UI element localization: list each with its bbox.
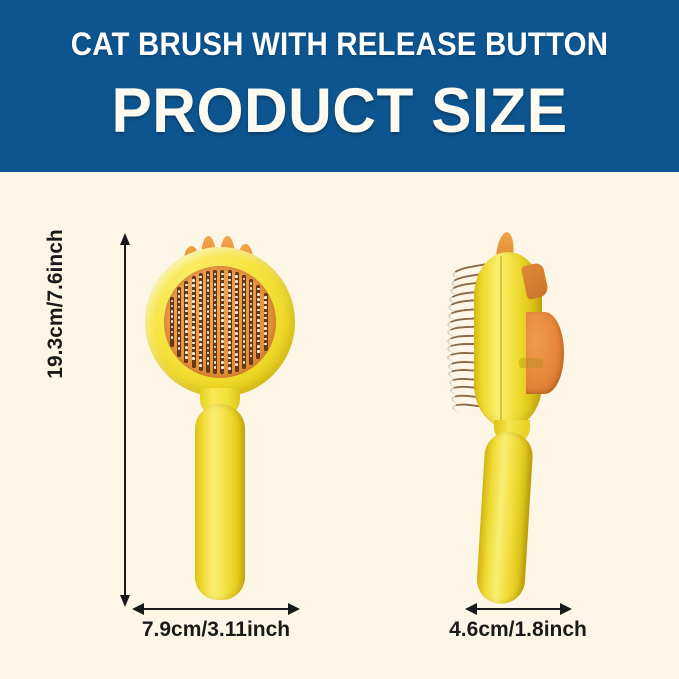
bristle-dot bbox=[250, 350, 253, 353]
bristle-slot bbox=[206, 271, 210, 373]
bristle-dot bbox=[228, 310, 231, 313]
bristle-dot bbox=[257, 345, 260, 348]
bristle-dot bbox=[207, 300, 210, 303]
bristle-dot bbox=[199, 354, 202, 357]
bristle-dot bbox=[178, 332, 181, 335]
bristle-dot bbox=[235, 301, 238, 304]
bristle-dot bbox=[207, 341, 210, 344]
bristle-dot bbox=[207, 279, 210, 282]
bristle-dot bbox=[228, 362, 231, 365]
bristle-dot bbox=[192, 321, 195, 324]
bristle-dot bbox=[214, 320, 217, 323]
bristle-dot bbox=[235, 358, 238, 361]
bristle-dot bbox=[257, 309, 260, 312]
bristle-dot bbox=[185, 299, 188, 302]
bristle-dot bbox=[207, 321, 210, 324]
bristle-dot bbox=[235, 327, 238, 330]
bristle-dot bbox=[228, 336, 231, 339]
bristle-dot bbox=[243, 283, 246, 286]
bristle-dot bbox=[235, 291, 238, 294]
cat-brush-side-view bbox=[440, 230, 620, 602]
bristle-dot bbox=[214, 330, 217, 333]
bristle-slot bbox=[199, 273, 203, 371]
bristle-slot bbox=[192, 276, 196, 368]
bristle-dot bbox=[221, 361, 224, 364]
bristle-dot bbox=[250, 318, 253, 321]
bristle-dot bbox=[264, 296, 267, 299]
bristle-dot bbox=[199, 312, 202, 315]
side-width-dimension-arrow bbox=[476, 608, 561, 610]
bristle-dot bbox=[221, 330, 224, 333]
bristle-dot bbox=[250, 287, 253, 290]
bristle-dot bbox=[235, 306, 238, 309]
bristle-dot bbox=[178, 342, 181, 345]
bristle-dot bbox=[264, 317, 267, 320]
bristle-dot bbox=[199, 364, 202, 367]
bristle-dot bbox=[192, 279, 195, 282]
product-stage: 19.3cm/7.6inch bbox=[0, 172, 679, 679]
bristle-dot bbox=[214, 304, 217, 307]
bristle-dot bbox=[178, 306, 181, 309]
bristle-dot bbox=[199, 281, 202, 284]
bristle-dot bbox=[228, 289, 231, 292]
bristle-dot bbox=[214, 351, 217, 354]
bristle-dot bbox=[250, 339, 253, 342]
bristle-dot bbox=[250, 292, 253, 295]
bristle-dot bbox=[214, 325, 217, 328]
bristle-dot bbox=[214, 283, 217, 286]
bristle-dot bbox=[257, 350, 260, 353]
bristle-dot bbox=[199, 317, 202, 320]
bristle-dot bbox=[221, 288, 224, 291]
bristle-dot bbox=[214, 278, 217, 281]
bristle-dot bbox=[228, 351, 231, 354]
bristle-dot bbox=[185, 289, 188, 292]
bristle-dot bbox=[214, 299, 217, 302]
bristle-slot bbox=[264, 293, 268, 351]
bristle-dot bbox=[199, 323, 202, 326]
bristle-slot bbox=[242, 275, 246, 369]
bristle-dot bbox=[192, 357, 195, 360]
bristle-slot bbox=[184, 281, 188, 364]
bristle-dot bbox=[257, 288, 260, 291]
page-title: PRODUCT SIZE bbox=[14, 80, 666, 143]
bristle-slot bbox=[220, 270, 224, 375]
bristle-dot bbox=[199, 328, 202, 331]
bristle-dot bbox=[235, 285, 238, 288]
bristle-dot bbox=[185, 294, 188, 297]
bristle-dot bbox=[171, 310, 174, 313]
bristle-dot bbox=[178, 316, 181, 319]
bristle-slot bbox=[177, 287, 181, 357]
bristle-dot bbox=[192, 352, 195, 355]
bristle-dot bbox=[214, 288, 217, 291]
bristle-dot bbox=[207, 352, 210, 355]
side-width-dimension-label: 4.6cm/1.8inch bbox=[398, 618, 638, 642]
brush-handle-side bbox=[476, 431, 534, 606]
bristle-dot bbox=[221, 335, 224, 338]
bristle-dot bbox=[235, 311, 238, 314]
bristle-dot bbox=[207, 305, 210, 308]
bristle-dot bbox=[228, 341, 231, 344]
bristle-dot bbox=[207, 295, 210, 298]
bristle-dot bbox=[243, 304, 246, 307]
bristle-dot bbox=[243, 340, 246, 343]
bristle-dot bbox=[221, 325, 224, 328]
bristle-dot bbox=[264, 338, 267, 341]
brush-handle bbox=[195, 404, 245, 600]
bristle-dot bbox=[243, 293, 246, 296]
product-size-infographic: CAT BRUSH WITH RELEASE BUTTON PRODUCT SI… bbox=[0, 0, 679, 679]
bristle-dot bbox=[221, 345, 224, 348]
bristle-dot bbox=[228, 294, 231, 297]
bristle-dot bbox=[257, 298, 260, 301]
bristle-dot bbox=[235, 332, 238, 335]
bristle-dot bbox=[235, 296, 238, 299]
bristle-dot bbox=[243, 325, 246, 328]
bristle-dot bbox=[250, 355, 253, 358]
bristle-dot bbox=[250, 308, 253, 311]
bristle-slot bbox=[249, 279, 253, 365]
bristle-dot bbox=[221, 273, 224, 276]
bristle-dot bbox=[171, 331, 174, 334]
header-subtitle: CAT BRUSH WITH RELEASE BUTTON bbox=[27, 26, 652, 63]
bristle-dot bbox=[214, 314, 217, 317]
bristle-dot bbox=[243, 356, 246, 359]
bristle-slot-grid bbox=[164, 266, 276, 378]
bristle-dot bbox=[192, 290, 195, 293]
bristle-dot bbox=[264, 343, 267, 346]
bristle-dot bbox=[221, 356, 224, 359]
bristle-dot bbox=[243, 309, 246, 312]
bristle-dot bbox=[171, 305, 174, 308]
bristle-dot bbox=[257, 314, 260, 317]
bristle-dot bbox=[264, 306, 267, 309]
bristle-dot bbox=[171, 336, 174, 339]
bristle-dot bbox=[214, 361, 217, 364]
bristle-dot bbox=[228, 315, 231, 318]
bristle-dot bbox=[171, 320, 174, 323]
bristle-dot bbox=[257, 293, 260, 296]
bristle-dot bbox=[185, 325, 188, 328]
bristle-dot bbox=[243, 288, 246, 291]
bristle-dot bbox=[264, 322, 267, 325]
bristle-dot bbox=[250, 329, 253, 332]
bristle-dot bbox=[221, 293, 224, 296]
bristle-dot bbox=[228, 346, 231, 349]
bristle-dot bbox=[250, 303, 253, 306]
bristle-dot bbox=[257, 303, 260, 306]
bristle-dot bbox=[185, 310, 188, 313]
bristle-dot bbox=[250, 282, 253, 285]
bristle-dot bbox=[178, 295, 181, 298]
bristle-dot bbox=[207, 326, 210, 329]
bristle-dot bbox=[228, 367, 231, 370]
bristle-dot bbox=[214, 273, 217, 276]
bristle-dot bbox=[199, 276, 202, 279]
bristle-slot bbox=[228, 270, 232, 373]
bristle-dot bbox=[185, 304, 188, 307]
bristle-dot bbox=[207, 357, 210, 360]
bristle-dot bbox=[192, 316, 195, 319]
bristle-dot bbox=[243, 345, 246, 348]
bristle-dot bbox=[185, 346, 188, 349]
bristle-dot bbox=[207, 284, 210, 287]
bristle-dot bbox=[235, 280, 238, 283]
bristle-dot bbox=[243, 299, 246, 302]
bristle-slot bbox=[213, 270, 217, 375]
bristle-dot bbox=[178, 301, 181, 304]
bristle-dot bbox=[199, 333, 202, 336]
bristle-dot bbox=[235, 337, 238, 340]
bristle-dot bbox=[192, 284, 195, 287]
bristle-dot bbox=[192, 331, 195, 334]
bristle-dot bbox=[214, 366, 217, 369]
bristle-dot bbox=[228, 320, 231, 323]
bristle-dot bbox=[178, 290, 181, 293]
bristle-dot bbox=[221, 319, 224, 322]
bristle-dot bbox=[235, 322, 238, 325]
brush-head-body bbox=[145, 247, 295, 397]
bristle-dot bbox=[221, 351, 224, 354]
bristle-dot bbox=[264, 332, 267, 335]
bristle-dot bbox=[257, 340, 260, 343]
bristle-dot bbox=[207, 362, 210, 365]
bristle-dot bbox=[228, 273, 231, 276]
bristle-dot bbox=[228, 331, 231, 334]
bristle-dot bbox=[178, 311, 181, 314]
bristle-dot bbox=[221, 340, 224, 343]
bristle-dot bbox=[228, 357, 231, 360]
bristle-dot bbox=[199, 307, 202, 310]
bristle-dot bbox=[207, 315, 210, 318]
bristle-dot bbox=[243, 314, 246, 317]
body-notch bbox=[519, 358, 543, 368]
bristle-dot bbox=[221, 283, 224, 286]
bristle-dot bbox=[235, 353, 238, 356]
bristle-dot bbox=[250, 313, 253, 316]
bristle-dot bbox=[171, 326, 174, 329]
bristle-slot bbox=[256, 285, 260, 360]
bristle-dot bbox=[192, 336, 195, 339]
bristle-dot bbox=[192, 342, 195, 345]
bristle-dot bbox=[221, 304, 224, 307]
bristle-dot bbox=[192, 347, 195, 350]
bristle-dot bbox=[221, 314, 224, 317]
bristle-dot bbox=[185, 341, 188, 344]
bristle-dot bbox=[214, 340, 217, 343]
bristle-dot bbox=[207, 331, 210, 334]
bristle-dot bbox=[199, 338, 202, 341]
body-seam-line bbox=[500, 256, 502, 424]
cat-brush-front-view bbox=[140, 230, 300, 600]
bristle-dot bbox=[214, 346, 217, 349]
bristle-dot bbox=[171, 315, 174, 318]
bristle-dot bbox=[221, 309, 224, 312]
bristle-dot bbox=[257, 324, 260, 327]
bristle-dot bbox=[228, 279, 231, 282]
bristle-dot bbox=[199, 286, 202, 289]
bristle-dot bbox=[264, 301, 267, 304]
bristle-dot bbox=[178, 321, 181, 324]
bristle-dot bbox=[235, 317, 238, 320]
bristle-dot bbox=[185, 356, 188, 359]
height-dimension-label: 19.3cm/7.6inch bbox=[44, 204, 68, 404]
bristle-dot bbox=[257, 335, 260, 338]
bristle-dot bbox=[199, 302, 202, 305]
bristle-dot bbox=[199, 291, 202, 294]
bristle-dot bbox=[199, 359, 202, 362]
bristle-dot bbox=[178, 337, 181, 340]
bristle-dot bbox=[214, 309, 217, 312]
bristle-dot bbox=[257, 319, 260, 322]
bristle-dot bbox=[192, 295, 195, 298]
bristle-dot bbox=[178, 347, 181, 350]
bristle-dot bbox=[178, 327, 181, 330]
height-dimension-arrow bbox=[124, 244, 126, 596]
bristle-dot bbox=[185, 320, 188, 323]
bristle-dot bbox=[235, 343, 238, 346]
bristle-dot bbox=[214, 335, 217, 338]
bristle-dot bbox=[192, 310, 195, 313]
bristle-dot bbox=[250, 324, 253, 327]
bristle-dot bbox=[228, 325, 231, 328]
bristle-dot bbox=[207, 310, 210, 313]
bristle-dot bbox=[185, 315, 188, 318]
bristle-dot bbox=[221, 278, 224, 281]
bristle-dot bbox=[243, 361, 246, 364]
bristle-dot bbox=[250, 334, 253, 337]
bristle-dot bbox=[199, 343, 202, 346]
bristle-slot bbox=[235, 272, 239, 372]
bristle-dot bbox=[192, 326, 195, 329]
release-button bbox=[526, 312, 564, 394]
bristle-dot bbox=[207, 289, 210, 292]
bristle-dot bbox=[250, 344, 253, 347]
bristle-dot bbox=[243, 351, 246, 354]
bristle-dot bbox=[192, 300, 195, 303]
bristle-dot bbox=[228, 299, 231, 302]
bristle-dot bbox=[199, 349, 202, 352]
bristle-dot bbox=[243, 319, 246, 322]
bristle-dot bbox=[235, 275, 238, 278]
bristle-dot bbox=[228, 284, 231, 287]
bristle-dot bbox=[257, 329, 260, 332]
brush-pad bbox=[164, 266, 276, 378]
front-width-dimension-label: 7.9cm/3.11inch bbox=[66, 618, 366, 642]
bristle-dot bbox=[199, 297, 202, 300]
bristle-dot bbox=[185, 330, 188, 333]
bristle-dot bbox=[185, 336, 188, 339]
bristle-dot bbox=[221, 299, 224, 302]
bristle-dot bbox=[185, 351, 188, 354]
bristle-dot bbox=[207, 336, 210, 339]
bristle-dot bbox=[243, 335, 246, 338]
bristle-dot bbox=[228, 305, 231, 308]
bristle-dot bbox=[243, 330, 246, 333]
bristle-dot bbox=[185, 284, 188, 287]
front-width-dimension-arrow bbox=[143, 608, 289, 610]
bristle-dot bbox=[250, 298, 253, 301]
bristle-dot bbox=[264, 312, 267, 315]
bristle-dot bbox=[264, 327, 267, 330]
bristle-dot bbox=[171, 300, 174, 303]
bristle-dot bbox=[235, 348, 238, 351]
header-banner: CAT BRUSH WITH RELEASE BUTTON PRODUCT SI… bbox=[0, 0, 679, 172]
bristle-dot bbox=[243, 278, 246, 281]
bristle-dot bbox=[235, 363, 238, 366]
bristle-dot bbox=[221, 366, 224, 369]
bristle-slot bbox=[170, 297, 174, 348]
bristle-dot bbox=[207, 347, 210, 350]
bristle-dot bbox=[192, 305, 195, 308]
bristle-dot bbox=[207, 274, 210, 277]
bristle-dot bbox=[214, 356, 217, 359]
bristle-dot bbox=[214, 294, 217, 297]
